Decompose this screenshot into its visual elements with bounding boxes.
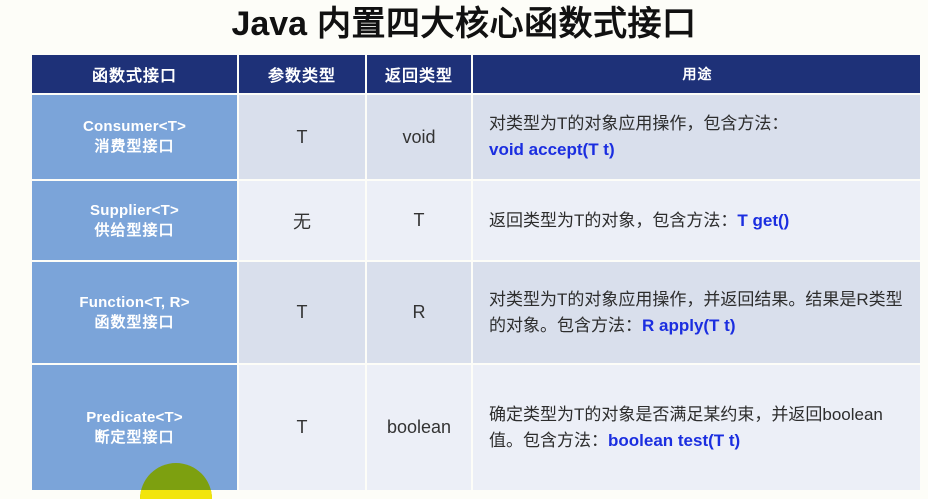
purpose-text: 返回类型为T的对象，包含方法： <box>489 211 737 230</box>
interface-signature: Consumer<T> <box>32 117 237 137</box>
page-title: Java 内置四大核心函数式接口 <box>0 2 928 46</box>
cell-return-type: T <box>367 181 471 260</box>
cell-param-type: T <box>239 95 365 179</box>
page-title-cn: 内置四大核心函数式接口 <box>307 5 696 43</box>
cell-interface-predicate: Predicate<T> 断定型接口 <box>32 365 237 490</box>
interface-name-cn: 断定型接口 <box>32 428 237 448</box>
cell-param-type: 无 <box>239 181 365 260</box>
column-header-interface: 函数式接口 <box>32 55 237 93</box>
cell-purpose: 对类型为T的对象应用操作，并返回结果。结果是R类型的对象。包含方法：R appl… <box>473 262 920 363</box>
column-header-param-type: 参数类型 <box>239 55 365 93</box>
interface-signature: Predicate<T> <box>32 408 237 428</box>
table-header: 函数式接口 参数类型 返回类型 用途 <box>32 55 920 93</box>
table-row: Consumer<T> 消费型接口 T void 对类型为T的对象应用操作，包含… <box>32 95 920 179</box>
cell-purpose: 返回类型为T的对象，包含方法：T get() <box>473 181 920 260</box>
slide-page: Java 内置四大核心函数式接口 函数式接口 参数类型 返回类型 用途 Cons… <box>0 0 928 490</box>
functional-interfaces-table: 函数式接口 参数类型 返回类型 用途 Consumer<T> 消费型接口 T v… <box>32 55 920 490</box>
column-header-purpose: 用途 <box>473 55 920 93</box>
purpose-text: 对类型为T的对象应用操作，包含方法： <box>489 114 788 133</box>
cell-interface-supplier: Supplier<T> 供给型接口 <box>32 181 237 260</box>
purpose-method-signature: boolean test(T t) <box>608 431 740 450</box>
cell-purpose: 确定类型为T的对象是否满足某约束，并返回boolean 值。包含方法：boole… <box>473 365 920 490</box>
cell-return-type: R <box>367 262 471 363</box>
purpose-method-signature: void accept(T t) <box>489 140 615 159</box>
cell-return-type: boolean <box>367 365 471 490</box>
page-title-latin: Java <box>231 5 307 43</box>
cell-param-type: T <box>239 365 365 490</box>
interface-name-cn: 供给型接口 <box>32 221 237 241</box>
functional-interfaces-table-wrapper: 函数式接口 参数类型 返回类型 用途 Consumer<T> 消费型接口 T v… <box>32 55 920 490</box>
cell-interface-consumer: Consumer<T> 消费型接口 <box>32 95 237 179</box>
cell-interface-function: Function<T, R> 函数型接口 <box>32 262 237 363</box>
cell-return-type: void <box>367 95 471 179</box>
cell-purpose: 对类型为T的对象应用操作，包含方法： void accept(T t) <box>473 95 920 179</box>
interface-name-cn: 函数型接口 <box>32 313 237 333</box>
cell-param-type: T <box>239 262 365 363</box>
table-row: Supplier<T> 供给型接口 无 T 返回类型为T的对象，包含方法：T g… <box>32 181 920 260</box>
interface-name-cn: 消费型接口 <box>32 137 237 157</box>
interface-signature: Function<T, R> <box>32 293 237 313</box>
purpose-method-signature: T get() <box>737 211 789 230</box>
table-header-row: 函数式接口 参数类型 返回类型 用途 <box>32 55 920 93</box>
column-header-return-type: 返回类型 <box>367 55 471 93</box>
table-body: Consumer<T> 消费型接口 T void 对类型为T的对象应用操作，包含… <box>32 95 920 490</box>
interface-signature: Supplier<T> <box>32 201 237 221</box>
table-row: Function<T, R> 函数型接口 T R 对类型为T的对象应用操作，并返… <box>32 262 920 363</box>
purpose-method-signature: R apply(T t) <box>642 316 736 335</box>
semicircle-lower-band <box>140 490 212 499</box>
